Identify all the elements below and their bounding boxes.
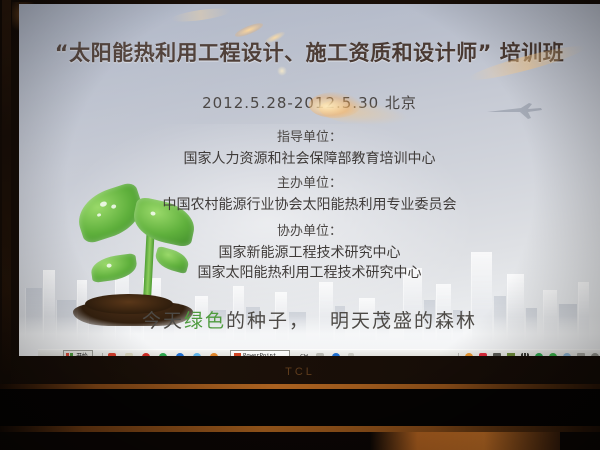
qlaunch-icon-1[interactable] <box>108 353 116 357</box>
qlaunch-icon-2[interactable] <box>125 353 133 357</box>
start-button[interactable]: 开始 <box>63 350 93 356</box>
warm-floor-reflection <box>370 432 560 450</box>
glare-streak-top <box>171 6 232 24</box>
taskbar-item-powerpoint[interactable]: PowerPoint... <box>230 350 290 356</box>
qlaunch-icon-4[interactable] <box>159 353 167 357</box>
ir-receiver-dot <box>327 394 332 399</box>
qlaunch-icon-5[interactable] <box>176 353 184 357</box>
cohost-unit-org-2: 国家太阳能热利用工程技术研究中心 <box>19 262 600 282</box>
windows-flag-icon <box>66 353 74 356</box>
tray-icon-green-circle[interactable] <box>535 353 543 357</box>
tray-icon-red-cross[interactable] <box>479 353 487 357</box>
photograph-of-tv-screen: TCL <box>0 0 600 450</box>
tagline-part-1: 今天 <box>142 310 184 332</box>
tcl-brand-logo: TCL <box>0 366 600 378</box>
tray-icon-green-q[interactable] <box>549 353 557 357</box>
computer-screen: “太阳能热利用工程设计、施工资质和设计师” 培训班 2012.5.28-2012… <box>19 4 600 356</box>
glare-dot <box>277 66 287 76</box>
tray-icon-shield[interactable] <box>348 353 354 356</box>
host-unit-label: 主办单位： <box>19 172 600 191</box>
quick-launch-bar[interactable] <box>102 353 218 357</box>
power-led-indicator <box>336 394 341 399</box>
powerpoint-icon <box>234 353 241 356</box>
taskbar-ime-area[interactable]: CH <box>300 353 354 357</box>
tray-icon-help[interactable] <box>332 353 340 357</box>
tray-icon-orange[interactable] <box>465 353 473 357</box>
slide-date-location: 2012.5.28-2012.5.30 北京 <box>19 92 600 113</box>
tray-icon-flag[interactable] <box>577 353 585 357</box>
tray-icon-browser[interactable] <box>563 353 571 357</box>
windows-taskbar[interactable]: 开始 PowerPoint... CH <box>38 349 600 356</box>
cohost-unit-org-1: 国家新能源工程技术研究中心 <box>19 242 600 262</box>
guidance-unit-org: 国家人力资源和社会保障部教育培训中心 <box>19 148 600 168</box>
ime-indicator-label: CH <box>300 354 308 357</box>
tagline-green-word: 绿色 <box>184 310 226 332</box>
tray-icon-mail[interactable] <box>316 353 324 357</box>
taskbar-item-powerpoint-label: PowerPoint... <box>243 353 286 356</box>
dark-surface-band <box>0 389 600 426</box>
start-button-label: 开始 <box>76 353 87 356</box>
tray-icon-volume-green[interactable] <box>507 353 515 357</box>
qlaunch-icon-7[interactable] <box>210 353 218 357</box>
guidance-unit-label: 指导单位： <box>19 126 600 145</box>
slide-tagline: 今天绿色的种子，明天茂盛的森林 <box>19 306 600 333</box>
slide-title: “太阳能热利用工程设计、施工资质和设计师” 培训班 <box>19 37 600 67</box>
qlaunch-icon-3[interactable] <box>142 353 150 357</box>
bezel-left-highlight <box>2 0 11 389</box>
tray-icon-speaker[interactable] <box>591 353 599 357</box>
qlaunch-icon-6[interactable] <box>193 353 201 357</box>
host-unit-org: 中国农村能源行业协会太阳能热利用专业委员会 <box>19 194 600 214</box>
system-tray[interactable] <box>458 353 600 357</box>
tray-icon-monitor[interactable] <box>493 353 501 357</box>
tray-icon-signal-bars[interactable] <box>521 353 529 357</box>
tagline-part-3: 明天茂盛的森林 <box>330 310 477 332</box>
cohost-unit-label: 协办单位： <box>19 220 600 239</box>
tagline-part-2: 的种子， <box>226 310 310 332</box>
